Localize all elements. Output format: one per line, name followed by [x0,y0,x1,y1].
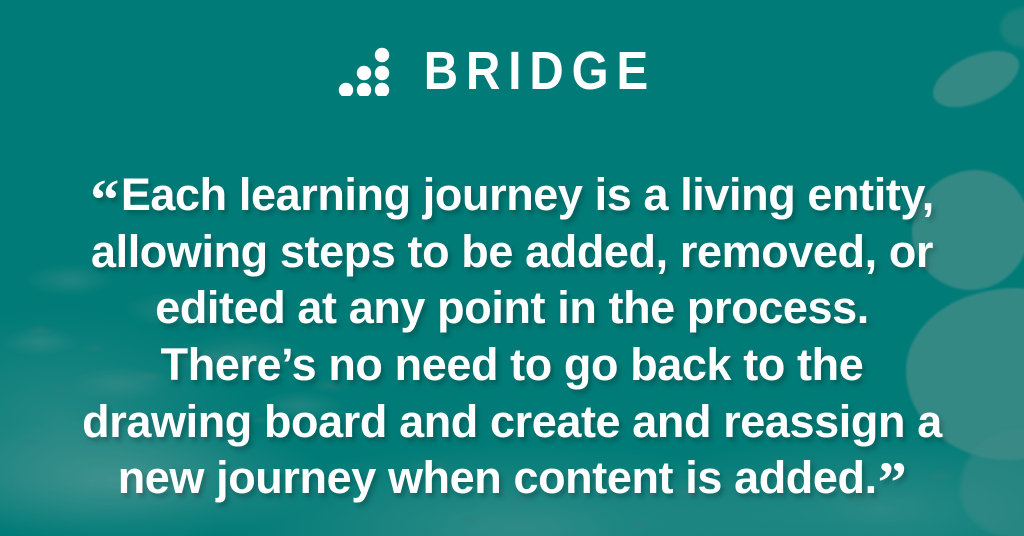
decorative-blob-5 [1000,8,1024,48]
open-quote-mark: “ [90,167,119,232]
bridge-dot-triangle-icon [336,46,392,96]
quote-line-4: There’s no need to go back to the [62,337,962,394]
quote-line-3: edited at any point in the process. [62,280,962,337]
close-quote-mark: ” [878,450,907,515]
quote-line-5: drawing board and create and reassign a [62,394,962,451]
quote-line-6-text: new journey when content is added. [118,452,877,503]
logo-wordmark: BRIDGE [422,44,656,98]
bridge-logo: BRIDGE [0,44,1024,98]
quote-line-1-text: Each learning journey is a living entity… [121,169,934,220]
quote-card: BRIDGE “Each learning journey is a livin… [0,0,1024,536]
quote-line-2: allowing steps to be added, removed, or [62,224,962,281]
quote-line-1: “Each learning journey is a living entit… [62,167,962,224]
quote-line-6: new journey when content is added.” [62,450,962,507]
quote-text: “Each learning journey is a living entit… [62,167,962,507]
quote-block: “Each learning journey is a living entit… [40,167,984,507]
